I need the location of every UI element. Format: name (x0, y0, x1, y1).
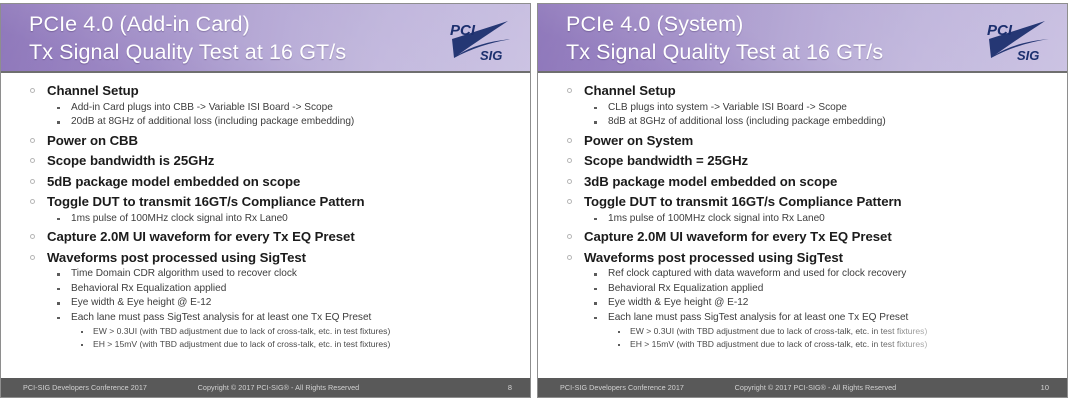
slide-footer: PCI-SIG Developers Conference 2017Copyri… (1, 378, 530, 397)
bullet-level2: 1ms pulse of 100MHz clock signal into Rx… (47, 212, 516, 227)
bullet-level2-text: 1ms pulse of 100MHz clock signal into Rx… (71, 213, 288, 224)
slide-2: PCIe 4.0 (System) Tx Signal Quality Test… (537, 3, 1068, 398)
bullet-list-level2: CLB plugs into system -> Variable ISI Bo… (584, 101, 1053, 130)
bullet-level2-text: Eye width & Eye height @ E-12 (608, 297, 748, 308)
bullet-list-level2: Ref clock captured with data waveform an… (584, 267, 1053, 351)
bullet-level2: 1ms pulse of 100MHz clock signal into Rx… (584, 212, 1053, 227)
bullet-list-level2: 1ms pulse of 100MHz clock signal into Rx… (584, 212, 1053, 227)
pci-sig-logo: PCISIG (446, 15, 518, 65)
bullet-level2-text: 20dB at 8GHz of additional loss (includi… (71, 116, 354, 127)
bullet-level1-text: Waveforms post processed using SigTest (47, 248, 516, 268)
bullet-level3: EH > 15mV (with TBD adjustment due to la… (608, 338, 1053, 351)
bullet-level3-text: EH > 15mV (with TBD adjustment due to la… (93, 339, 390, 349)
bullet-level2-text: Each lane must pass SigTest analysis for… (608, 312, 908, 323)
bullet-level2-text: Ref clock captured with data waveform an… (608, 268, 906, 279)
bullet-level2: Each lane must pass SigTest analysis for… (584, 311, 1053, 352)
slide-1: PCIe 4.0 (Add-in Card) Tx Signal Quality… (0, 3, 531, 398)
bullet-level2-text: Each lane must pass SigTest analysis for… (71, 312, 371, 323)
footer-copyright: Copyright © 2017 PCI-SIG® - All Rights R… (198, 383, 360, 392)
bullet-level2: Each lane must pass SigTest analysis for… (47, 311, 516, 352)
bullet-level1: Scope bandwidth is 25GHz (15, 151, 516, 171)
bullet-level2-text: 1ms pulse of 100MHz clock signal into Rx… (608, 213, 825, 224)
bullet-level2-text: Behavioral Rx Equalization applied (608, 283, 763, 294)
bullet-level2: Ref clock captured with data waveform an… (584, 267, 1053, 282)
slide-header-banner: PCIe 4.0 (Add-in Card) Tx Signal Quality… (1, 4, 530, 73)
footer-conference-name: PCI-SIG Developers Conference 2017 (23, 383, 147, 392)
bullet-level1: Capture 2.0M UI waveform for every Tx EQ… (15, 227, 516, 247)
bullet-level1-text: Capture 2.0M UI waveform for every Tx EQ… (47, 227, 516, 247)
footer-page-number: 10 (1041, 383, 1049, 392)
pci-sig-logo: PCISIG (983, 15, 1055, 65)
bullet-list-level3: EW > 0.3UI (with TBD adjustment due to l… (71, 325, 516, 351)
bullet-level1-text: Power on System (584, 131, 1053, 151)
slide-body: Channel SetupCLB plugs into system -> Va… (538, 73, 1067, 378)
bullet-list-level2: 1ms pulse of 100MHz clock signal into Rx… (47, 212, 516, 227)
bullet-level3-text: EW > 0.3UI (with TBD adjustment due to l… (630, 326, 927, 336)
bullet-level1: Capture 2.0M UI waveform for every Tx EQ… (552, 227, 1053, 247)
bullet-level1-text: Toggle DUT to transmit 16GT/s Compliance… (47, 192, 516, 212)
bullet-level3: EW > 0.3UI (with TBD adjustment due to l… (71, 325, 516, 338)
bullet-list-level1: Channel SetupCLB plugs into system -> Va… (552, 81, 1053, 351)
slide-header-banner: PCIe 4.0 (System) Tx Signal Quality Test… (538, 4, 1067, 73)
bullet-level2: Time Domain CDR algorithm used to recove… (47, 267, 516, 282)
bullet-level1: Waveforms post processed using SigTestRe… (552, 248, 1053, 352)
bullet-level2: Add-in Card plugs into CBB -> Variable I… (47, 101, 516, 116)
svg-text:SIG: SIG (1017, 48, 1039, 63)
bullet-level1-text: Channel Setup (47, 81, 516, 101)
bullet-list-level2: Add-in Card plugs into CBB -> Variable I… (47, 101, 516, 130)
bullet-level1-text: Waveforms post processed using SigTest (584, 248, 1053, 268)
bullet-level2-text: Eye width & Eye height @ E-12 (71, 297, 211, 308)
bullet-level1-text: Scope bandwidth = 25GHz (584, 151, 1053, 171)
bullet-level1-text: 5dB package model embedded on scope (47, 172, 516, 192)
bullet-level2: Eye width & Eye height @ E-12 (47, 296, 516, 311)
bullet-level1: 3dB package model embedded on scope (552, 172, 1053, 192)
slide-footer: PCI-SIG Developers Conference 2017Copyri… (538, 378, 1067, 397)
bullet-level1: Power on System (552, 131, 1053, 151)
bullet-level2: 20dB at 8GHz of additional loss (includi… (47, 115, 516, 130)
bullet-level3-text: EW > 0.3UI (with TBD adjustment due to l… (93, 326, 390, 336)
bullet-level2-text: 8dB at 8GHz of additional loss (includin… (608, 116, 886, 127)
svg-text:PCI: PCI (987, 22, 1013, 39)
bullet-level3: EH > 15mV (with TBD adjustment due to la… (71, 338, 516, 351)
slide-title: PCIe 4.0 (Add-in Card) Tx Signal Quality… (29, 10, 346, 66)
slide-body: Channel SetupAdd-in Card plugs into CBB … (1, 73, 530, 378)
bullet-level1: 5dB package model embedded on scope (15, 172, 516, 192)
bullet-level1-text: Power on CBB (47, 131, 516, 151)
bullet-level1: Toggle DUT to transmit 16GT/s Compliance… (15, 192, 516, 226)
bullet-level1-text: Scope bandwidth is 25GHz (47, 151, 516, 171)
footer-conference-name: PCI-SIG Developers Conference 2017 (560, 383, 684, 392)
bullet-list-level2: Time Domain CDR algorithm used to recove… (47, 267, 516, 351)
bullet-level2-text: Time Domain CDR algorithm used to recove… (71, 268, 297, 279)
bullet-level1: Scope bandwidth = 25GHz (552, 151, 1053, 171)
bullet-level2: Behavioral Rx Equalization applied (47, 282, 516, 297)
bullet-level2: Behavioral Rx Equalization applied (584, 282, 1053, 297)
bullet-level1: Power on CBB (15, 131, 516, 151)
footer-page-number: 8 (508, 383, 512, 392)
bullet-level2: Eye width & Eye height @ E-12 (584, 296, 1053, 311)
bullet-level2-text: Add-in Card plugs into CBB -> Variable I… (71, 102, 333, 113)
bullet-level1: Channel SetupCLB plugs into system -> Va… (552, 81, 1053, 130)
slide-deck: PCIe 4.0 (Add-in Card) Tx Signal Quality… (0, 0, 1080, 401)
bullet-level2-text: CLB plugs into system -> Variable ISI Bo… (608, 102, 847, 113)
bullet-level2: CLB plugs into system -> Variable ISI Bo… (584, 101, 1053, 116)
bullet-level2-text: Behavioral Rx Equalization applied (71, 283, 226, 294)
bullet-level1-text: Channel Setup (584, 81, 1053, 101)
svg-text:SIG: SIG (480, 48, 502, 63)
bullet-level3-text: EH > 15mV (with TBD adjustment due to la… (630, 339, 927, 349)
bullet-level1: Waveforms post processed using SigTestTi… (15, 248, 516, 352)
bullet-level1: Toggle DUT to transmit 16GT/s Compliance… (552, 192, 1053, 226)
bullet-level3: EW > 0.3UI (with TBD adjustment due to l… (608, 325, 1053, 338)
bullet-level2: 8dB at 8GHz of additional loss (includin… (584, 115, 1053, 130)
svg-text:PCI: PCI (450, 22, 476, 39)
bullet-list-level1: Channel SetupAdd-in Card plugs into CBB … (15, 81, 516, 351)
bullet-level1-text: Toggle DUT to transmit 16GT/s Compliance… (584, 192, 1053, 212)
bullet-level1-text: Capture 2.0M UI waveform for every Tx EQ… (584, 227, 1053, 247)
footer-copyright: Copyright © 2017 PCI-SIG® - All Rights R… (735, 383, 897, 392)
slide-title: PCIe 4.0 (System) Tx Signal Quality Test… (566, 10, 883, 66)
bullet-list-level3: EW > 0.3UI (with TBD adjustment due to l… (608, 325, 1053, 351)
bullet-level1: Channel SetupAdd-in Card plugs into CBB … (15, 81, 516, 130)
bullet-level1-text: 3dB package model embedded on scope (584, 172, 1053, 192)
